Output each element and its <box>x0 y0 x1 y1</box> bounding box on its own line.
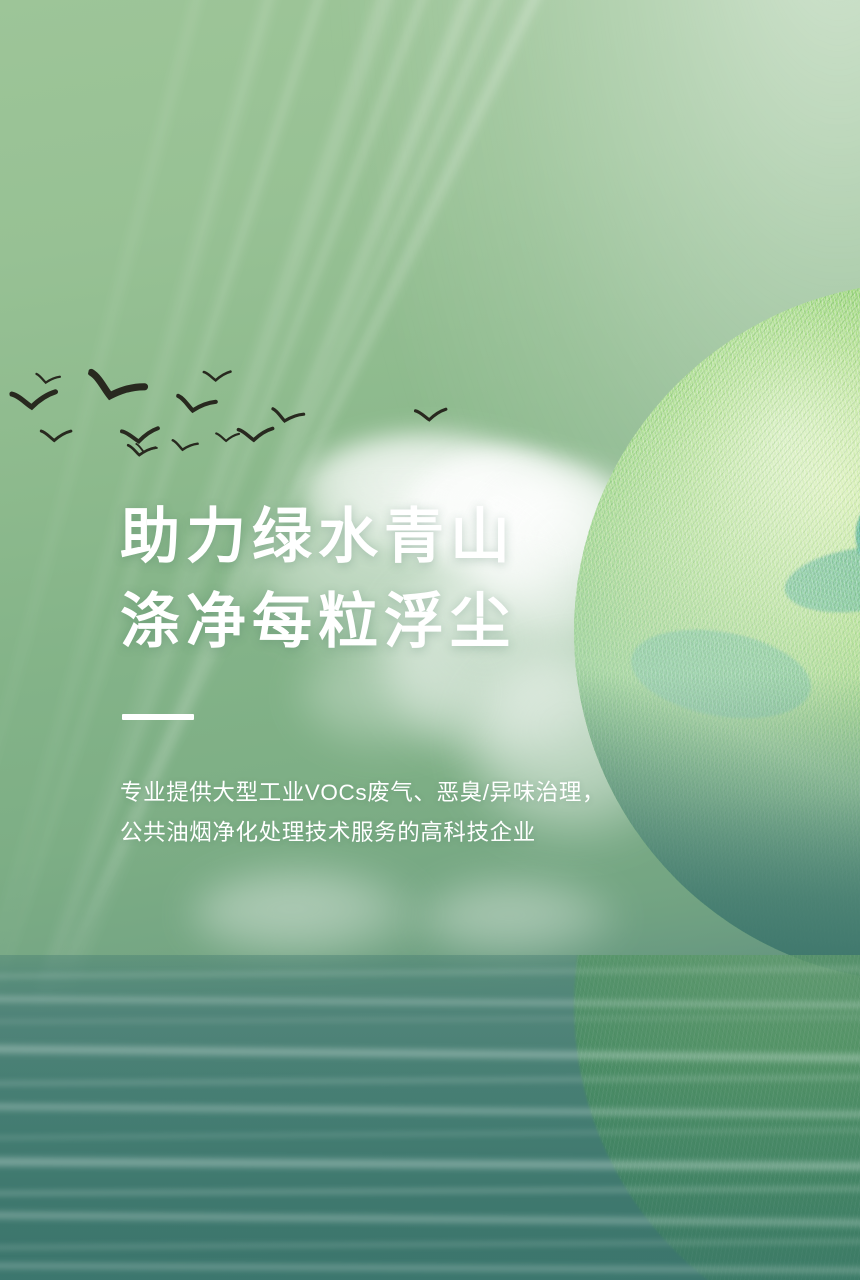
title-divider <box>122 714 194 720</box>
headline-line-2: 涤净每粒浮尘 <box>120 579 680 664</box>
water-surface <box>0 955 860 1280</box>
page-title: 助力绿水青山 涤净每粒浮尘 <box>120 494 680 664</box>
subtitle-line-2: 公共油烟净化处理技术服务的高科技企业 <box>120 813 680 853</box>
subtitle-line-1: 专业提供大型工业VOCs废气、恶臭/异味治理， <box>120 773 680 813</box>
promo-poster: 助力绿水青山 涤净每粒浮尘 专业提供大型工业VOCs废气、恶臭/异味治理， 公共… <box>0 0 860 1280</box>
headline-line-1: 助力绿水青山 <box>120 494 680 579</box>
subtitle: 专业提供大型工业VOCs废气、恶臭/异味治理， 公共油烟净化处理技术服务的高科技… <box>120 773 680 853</box>
globe-reflection-texture <box>574 955 860 1280</box>
hero-content: 助力绿水青山 涤净每粒浮尘 专业提供大型工业VOCs废气、恶臭/异味治理， 公共… <box>120 494 680 853</box>
